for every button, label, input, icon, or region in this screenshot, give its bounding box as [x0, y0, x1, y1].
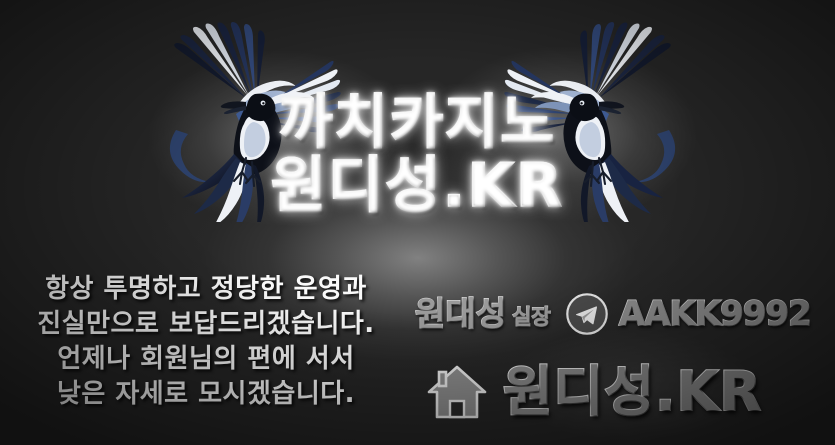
telegram-id[interactable]: AAKK9992 — [619, 296, 811, 332]
home-icon[interactable] — [425, 361, 489, 423]
domain-row[interactable]: 원디성.KR — [425, 352, 825, 432]
slogan-line-4: 낮은 자세로 모시겠습니다. — [22, 377, 390, 412]
domain-text[interactable]: 원디성.KR — [503, 363, 762, 421]
brand-title-line-2: 원디성.KR — [0, 154, 835, 218]
slogan-line-3: 언제나 회원님의 편에 서서 — [22, 342, 390, 377]
magpie-mascot-right — [489, 12, 727, 222]
slogan-block: 항상 투명하고 정당한 운영과 진실만으로 보답드리겠습니다. 언제나 회원님의… — [22, 272, 390, 412]
telegram-icon[interactable] — [565, 292, 609, 336]
contact-role: 실장 — [512, 305, 551, 329]
brand-title-line-1: 까치카지노 — [0, 92, 835, 152]
slogan-line-1: 항상 투명하고 정당한 운영과 — [22, 272, 390, 307]
glow-right — [400, 24, 730, 244]
casino-promo-banner: 까치카지노 원디성.KR 항상 투명하고 정당한 운영과 진실만으로 보답드리겠… — [0, 0, 835, 445]
contact-row[interactable]: 원대성 실장 AAKK9992 — [415, 288, 815, 340]
brand-title: 까치카지노 원디성.KR — [0, 92, 835, 218]
glow-left — [115, 28, 445, 248]
contact-name: 원대성 — [415, 296, 506, 332]
slogan-line-2: 진실만으로 보답드리겠습니다. — [22, 307, 390, 342]
magpie-mascot-left — [118, 12, 356, 222]
